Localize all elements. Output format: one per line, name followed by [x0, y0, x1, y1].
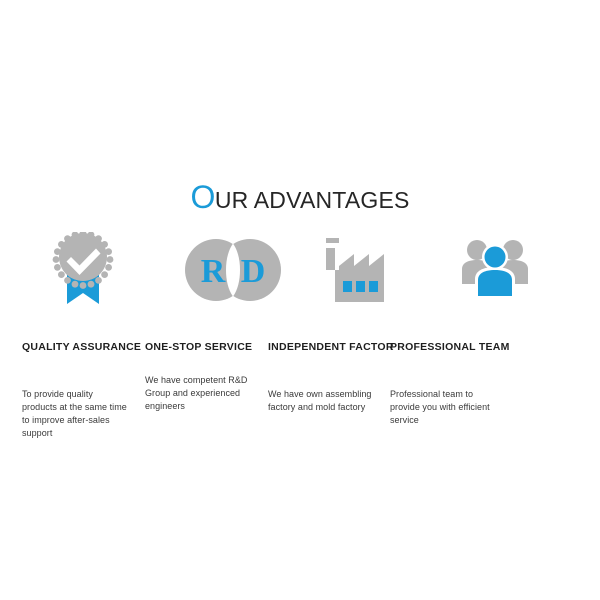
page-title-rest: UR ADVANTAGES — [215, 187, 410, 213]
svg-text:R: R — [201, 253, 226, 290]
advantage-card-professional-team: PROFESSIONAL TEAM Professional team to p… — [390, 230, 512, 308]
advantage-card-quality-assurance: QUALITY ASSURANCE To provide quality pro… — [22, 230, 144, 308]
advantage-heading: ONE-STOP SERVICE — [145, 340, 280, 356]
advantage-body: Professional team to provide you with ef… — [390, 388, 498, 427]
advantage-icon-wrapper — [268, 230, 390, 308]
factory-icon — [320, 236, 386, 304]
award-ribbon-icon — [50, 232, 116, 306]
rd-circles-icon: R D — [185, 239, 281, 301]
advantage-heading: PROFESSIONAL TEAM — [390, 340, 525, 356]
advantage-icon-wrapper — [22, 230, 144, 308]
advantage-heading: INDEPENDENT FACTOR — [268, 340, 403, 356]
advantage-body: We have own assembling factory and mold … — [268, 388, 376, 414]
advantage-body: To provide quality products at the same … — [22, 388, 130, 440]
advantage-card-one-stop-service: R D ONE-STOP SERVICE We have competent R… — [145, 230, 267, 308]
advantages-section: OUR ADVANTAGES — [0, 0, 600, 600]
advantage-body: We have competent R&D Group and experien… — [145, 374, 253, 413]
advantage-icon-wrapper — [390, 230, 512, 308]
team-people-icon — [460, 239, 530, 297]
page-title: OUR ADVANTAGES — [0, 181, 600, 213]
svg-text:D: D — [241, 253, 266, 290]
advantage-card-independent-factor: INDEPENDENT FACTOR We have own assemblin… — [268, 230, 390, 308]
page-title-initial: O — [190, 179, 214, 215]
advantage-icon-wrapper: R D — [145, 230, 267, 308]
advantage-heading: QUALITY ASSURANCE — [22, 340, 157, 356]
